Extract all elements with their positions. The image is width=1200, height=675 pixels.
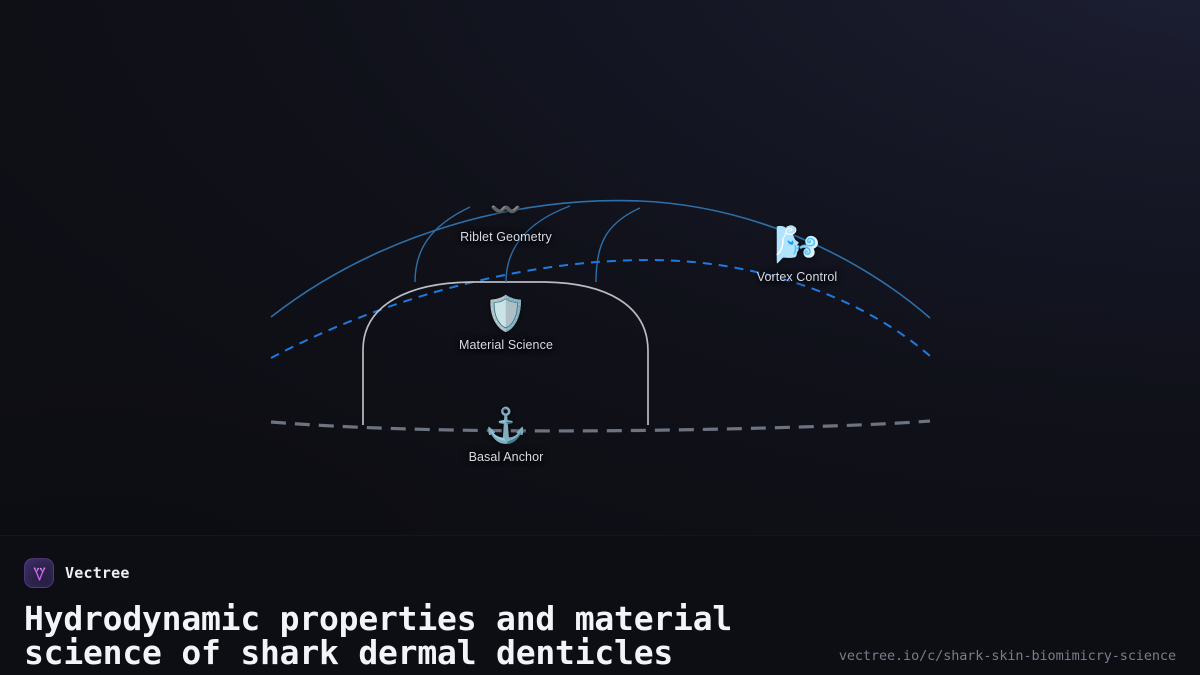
source-url[interactable]: vectree.io/c/shark-skin-biomimicry-scien… <box>839 648 1176 670</box>
diagram-canvas: 〰️Riblet Geometry🌬️Vortex Control🛡️Mater… <box>0 0 1200 535</box>
brand-name: Vectree <box>65 564 130 582</box>
node-label-material-science: Material Science <box>459 338 553 352</box>
page-title: Hydrodynamic properties and material sci… <box>24 602 732 670</box>
node-riblet-geometry[interactable]: 〰️Riblet Geometry <box>460 198 552 244</box>
node-label-vortex-control: Vortex Control <box>757 270 838 284</box>
vectree-logo-badge[interactable] <box>24 558 54 588</box>
diagram-edges-svg <box>0 0 1200 535</box>
title-row: Hydrodynamic properties and material sci… <box>24 602 1176 670</box>
shield-icon: 🛡️ <box>485 297 527 331</box>
vectree-tree-logo-icon <box>31 565 48 582</box>
brand-row: Vectree <box>24 558 1176 588</box>
node-vortex-control[interactable]: 🌬️Vortex Control <box>757 226 838 284</box>
wavy-dash-icon: 〰️ <box>490 198 521 223</box>
anchor-icon: ⚓ <box>485 409 527 443</box>
node-basal-anchor[interactable]: ⚓Basal Anchor <box>469 409 544 464</box>
poster-page: 〰️Riblet Geometry🌬️Vortex Control🛡️Mater… <box>0 0 1200 675</box>
node-label-riblet-geometry: Riblet Geometry <box>460 230 552 244</box>
footer-bar: Vectree Hydrodynamic properties and mate… <box>0 535 1200 675</box>
node-material-science[interactable]: 🛡️Material Science <box>459 297 553 352</box>
edge-substrate-dashed-gray <box>271 421 930 431</box>
node-label-basal-anchor: Basal Anchor <box>469 450 544 464</box>
wind-blowing-face-icon: 🌬️ <box>774 226 820 263</box>
edge-fan-curve-right <box>596 208 640 282</box>
